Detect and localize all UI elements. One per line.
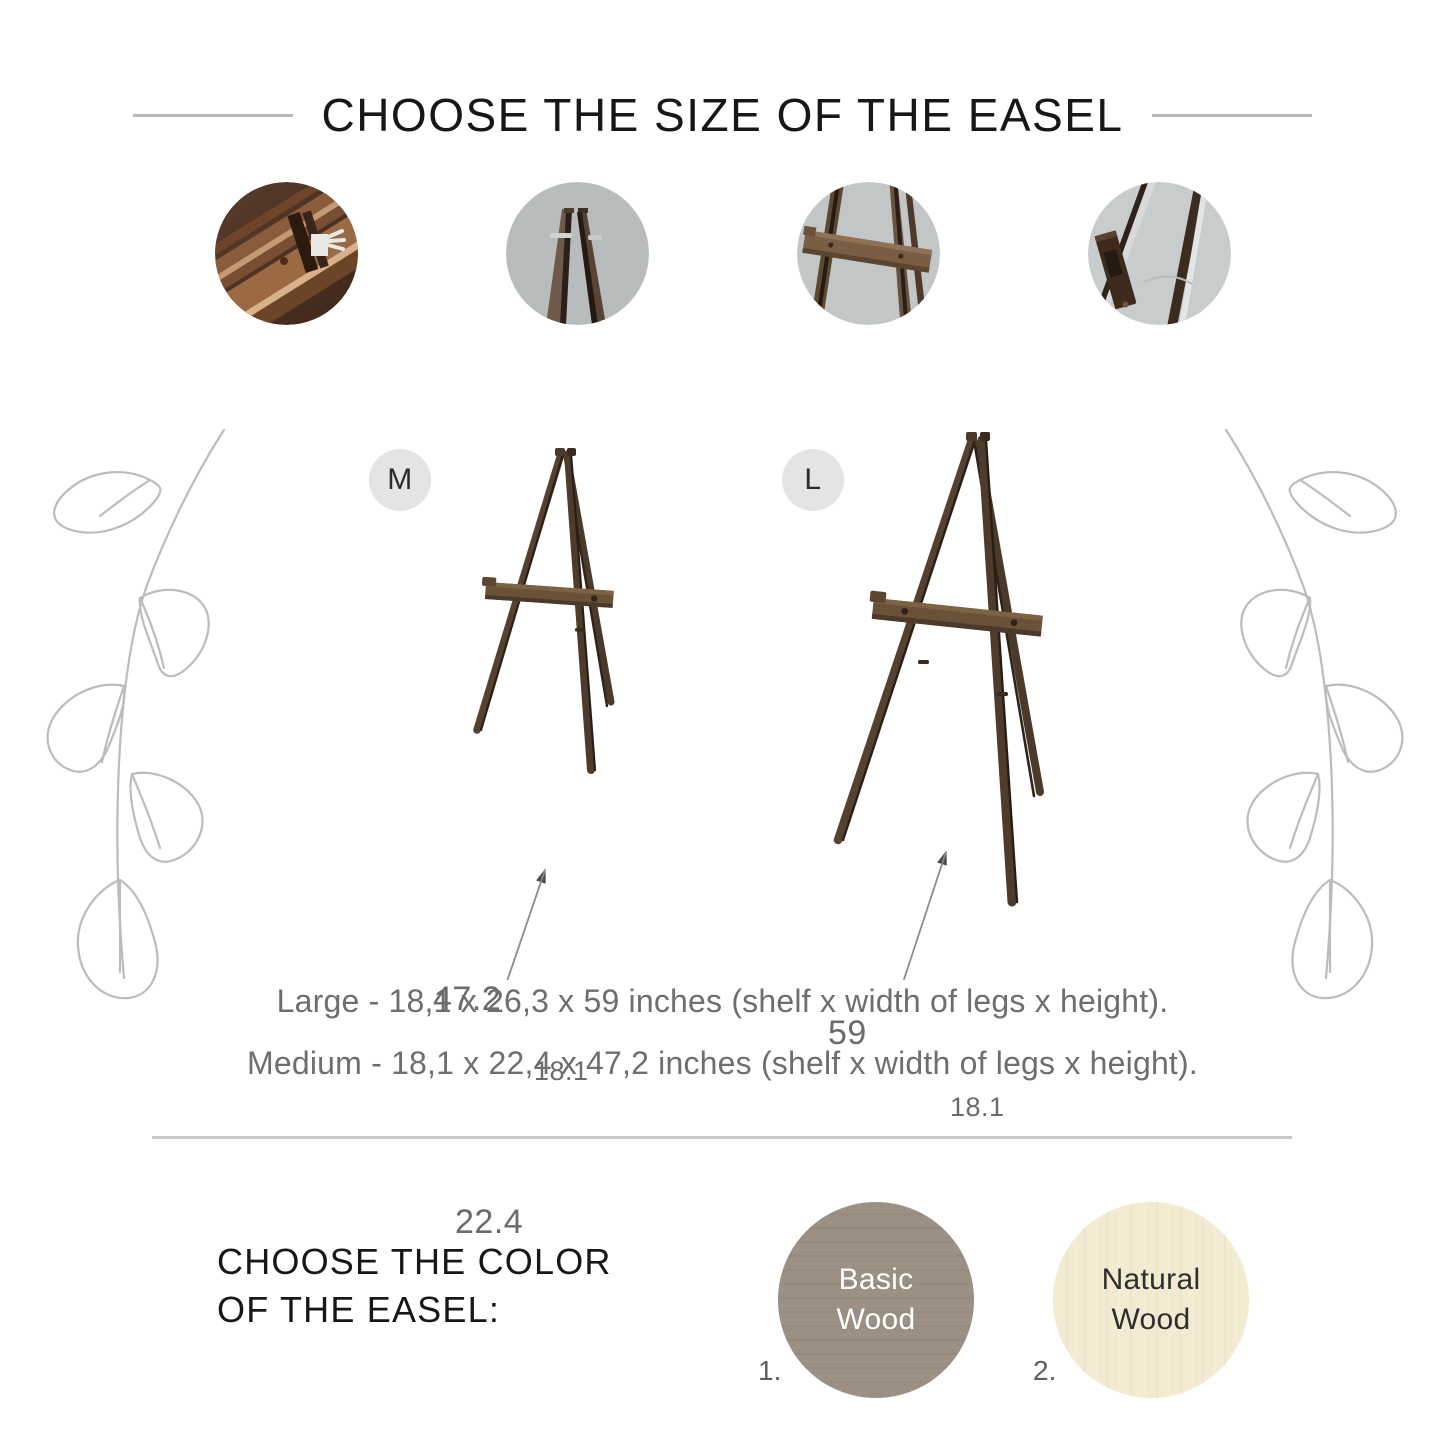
color-swatch-basic-wood-label: Basic Wood [836,1260,915,1340]
size-description-large: Large - 18,1 x 26,3 x 59 inches (shelf x… [0,985,1445,1017]
color-option-basic-wood[interactable]: Basic Wood [778,1202,974,1398]
title-rule-right [1152,114,1312,117]
natural-wood-line-2: Wood [1102,1300,1201,1340]
color-title-line-2: OF THE EASEL: [217,1286,612,1334]
thumbnail-easel-top-joint[interactable] [506,182,649,325]
page-title: CHOOSE THE SIZE OF THE EASEL [321,88,1123,142]
size-description-medium: Medium - 18,1 x 22,4 x 47,2 inches (shel… [0,1047,1445,1079]
thumbnail-strip [0,182,1445,325]
basic-wood-line-1: Basic [836,1260,915,1300]
easel-illustration-stage: 47.2 18.1 22.4 59 18.1 26.3 [0,420,1445,980]
color-swatch-natural-wood[interactable]: Natural Wood [1053,1202,1249,1398]
dimension-arrows-medium [0,420,1445,980]
basic-wood-line-2: Wood [836,1300,915,1340]
color-swatch-basic-wood[interactable]: Basic Wood [778,1202,974,1398]
section-divider [152,1136,1292,1139]
color-section-title: CHOOSE THE COLOR OF THE EASEL: [217,1238,612,1334]
dimension-label-medium-legs-width: 22.4 [455,1203,523,1242]
thumbnail-easel-closeup-wood-knob[interactable] [215,182,358,325]
page-title-row: CHOOSE THE SIZE OF THE EASEL [0,88,1445,142]
thumbnail-easel-shelf-bar[interactable] [797,182,940,325]
color-title-line-1: CHOOSE THE COLOR [217,1238,612,1286]
title-rule-left [133,114,293,117]
infographic-page: CHOOSE THE SIZE OF THE EASEL [0,0,1445,1446]
color-swatch-natural-wood-label: Natural Wood [1102,1260,1201,1340]
size-description-block: Large - 18,1 x 26,3 x 59 inches (shelf x… [0,985,1445,1109]
thumbnail-easel-leg-bracket[interactable] [1088,182,1231,325]
natural-wood-line-1: Natural [1102,1260,1201,1300]
color-option-natural-wood[interactable]: Natural Wood [1053,1202,1249,1398]
